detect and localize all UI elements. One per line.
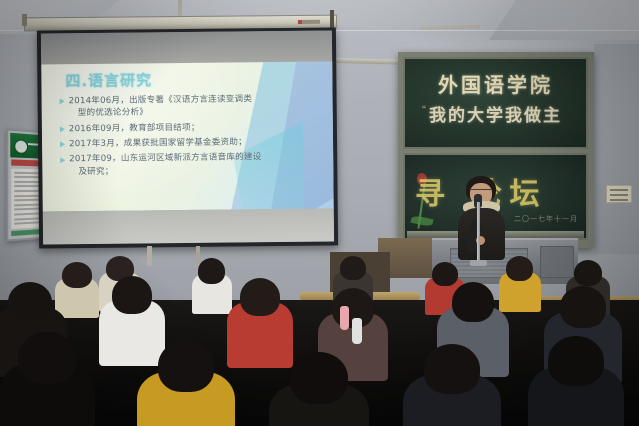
audience-member-head	[62, 262, 92, 288]
water-bottle-clear	[352, 318, 362, 344]
audience-member-head	[290, 352, 348, 404]
audience-member-head	[8, 282, 52, 322]
water-bottle-pink	[340, 306, 349, 330]
audience-member-head	[548, 336, 604, 386]
audience-member-head	[506, 256, 533, 281]
lecture-hall-photo: 四.语言研究 2014年06月，出版专著《汉语方言连读变调类 型的优选论分析》 …	[0, 0, 639, 426]
audience-member-head	[560, 286, 606, 328]
audience-member-head	[340, 256, 366, 280]
audience-member-head	[240, 278, 280, 316]
audience-member-head	[158, 340, 214, 392]
audience-member-head	[432, 262, 458, 286]
audience-member-head	[424, 344, 480, 394]
audience-member-head	[452, 282, 494, 322]
audience-member-head	[112, 276, 152, 314]
audience-member-head	[198, 258, 225, 284]
audience-member-head	[18, 332, 76, 384]
audience-member-head	[574, 260, 602, 286]
